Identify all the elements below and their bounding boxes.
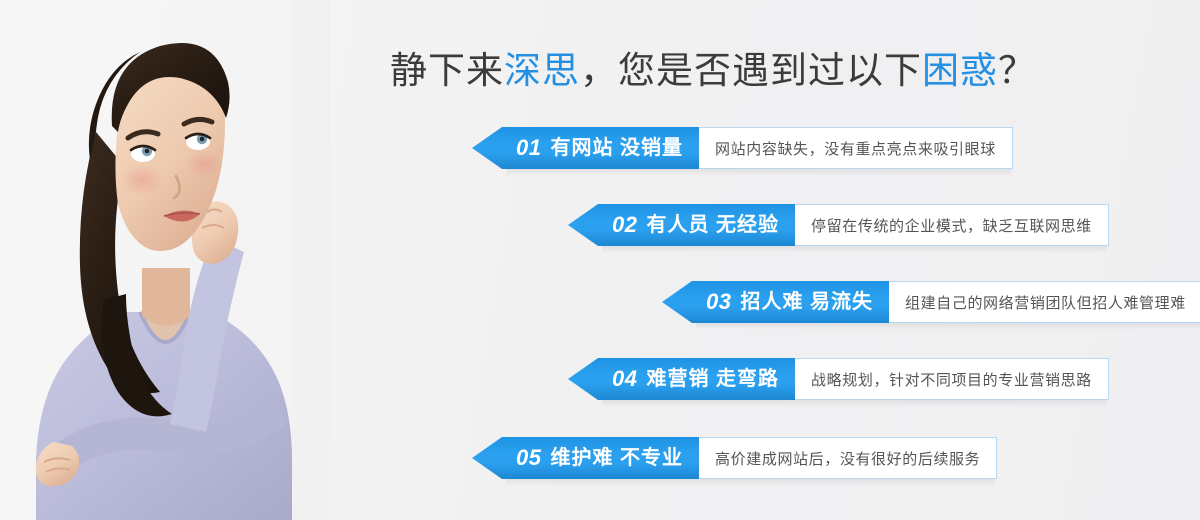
headline-part1: 静下来 bbox=[390, 50, 504, 91]
item-number: 02 bbox=[612, 214, 637, 236]
item-badge: 02 有人员 无经验 bbox=[568, 204, 795, 246]
thoughtful-woman-photo bbox=[0, 0, 330, 520]
item-title: 难营销 走弯路 bbox=[646, 369, 779, 389]
item-badge: 01 有网站 没销量 bbox=[472, 127, 699, 169]
item-description: 战略规划，针对不同项目的专业营销思路 bbox=[795, 358, 1109, 400]
item-number: 03 bbox=[706, 291, 731, 313]
item-description: 停留在传统的企业模式，缺乏互联网思维 bbox=[795, 204, 1109, 246]
headline-part2: ，您是否遇到过以下 bbox=[580, 50, 922, 91]
item-title: 维护难 不专业 bbox=[550, 448, 683, 468]
item-title: 有网站 没销量 bbox=[550, 138, 683, 158]
page-title: 静下来深思，您是否遇到过以下困惑？ bbox=[390, 44, 1090, 98]
item-description: 组建自己的网络营销团队但招人难管理难 bbox=[889, 281, 1200, 323]
item-number: 04 bbox=[612, 368, 637, 390]
list-item[interactable]: 04 难营销 走弯路 战略规划，针对不同项目的专业营销思路 bbox=[568, 358, 1109, 400]
headline-highlight1: 深思 bbox=[504, 50, 580, 91]
list-item[interactable]: 05 维护难 不专业 高价建成网站后，没有很好的后续服务 bbox=[472, 437, 997, 479]
item-title: 招人难 易流失 bbox=[740, 292, 873, 312]
item-number: 01 bbox=[516, 137, 541, 159]
headline-highlight2: 困惑 bbox=[922, 50, 998, 91]
item-number: 05 bbox=[516, 447, 541, 469]
promo-banner: 静下来深思，您是否遇到过以下困惑？ 01 有网站 没销量 网站内容缺失，没有重点… bbox=[0, 0, 1200, 520]
item-description: 高价建成网站后，没有很好的后续服务 bbox=[699, 437, 997, 479]
list-item[interactable]: 02 有人员 无经验 停留在传统的企业模式，缺乏互联网思维 bbox=[568, 204, 1109, 246]
item-title: 有人员 无经验 bbox=[646, 215, 779, 235]
list-item[interactable]: 03 招人难 易流失 组建自己的网络营销团队但招人难管理难 bbox=[662, 281, 1200, 323]
headline-part3: ？ bbox=[998, 50, 1036, 91]
item-badge: 03 招人难 易流失 bbox=[662, 281, 889, 323]
item-description: 网站内容缺失，没有重点亮点来吸引眼球 bbox=[699, 127, 1013, 169]
list-item[interactable]: 01 有网站 没销量 网站内容缺失，没有重点亮点来吸引眼球 bbox=[472, 127, 1013, 169]
item-badge: 04 难营销 走弯路 bbox=[568, 358, 795, 400]
item-badge: 05 维护难 不专业 bbox=[472, 437, 699, 479]
